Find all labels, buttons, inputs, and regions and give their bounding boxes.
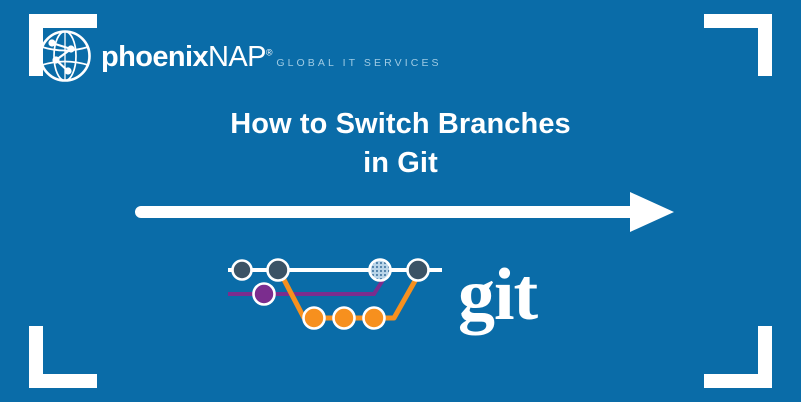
- page-title: How to Switch Branches in Git: [0, 105, 801, 183]
- corner-bracket-bottom-left-icon: [29, 326, 97, 388]
- edge-other-branch: [228, 272, 388, 294]
- commit-node-feature-2[interactable]: [334, 308, 355, 329]
- brand-name-nap: NAP: [208, 41, 266, 73]
- corner-bracket-top-right-icon: [704, 14, 772, 76]
- right-arrow-icon: [133, 190, 678, 234]
- commit-node-feature-3[interactable]: [364, 308, 385, 329]
- commit-node-merge[interactable]: [370, 260, 391, 281]
- brand-tagline: GLOBAL IT SERVICES: [276, 57, 441, 69]
- commit-node-feature-1[interactable]: [304, 308, 325, 329]
- brand-name-phoenix: phoenix: [101, 41, 208, 73]
- poster-canvas: phoenixNAP® GLOBAL IT SERVICES How to Sw…: [0, 0, 801, 402]
- git-wordmark: git: [458, 258, 537, 332]
- globe-network-icon: [38, 29, 92, 83]
- brand-text-block: phoenixNAP® GLOBAL IT SERVICES: [101, 41, 442, 72]
- commit-node-other-1[interactable]: [254, 284, 275, 305]
- right-arrow-graphic: [133, 190, 678, 234]
- bracket-bar-vertical: [758, 326, 772, 388]
- page-title-line-1: How to Switch Branches: [0, 105, 801, 144]
- git-branch-graph: [228, 250, 448, 340]
- bracket-bar-vertical: [758, 14, 772, 76]
- commit-node-main-1[interactable]: [233, 261, 252, 280]
- registered-mark-icon: ®: [266, 47, 272, 57]
- brand-logo: phoenixNAP® GLOBAL IT SERVICES: [38, 29, 442, 83]
- corner-bracket-bottom-right-icon: [704, 326, 772, 388]
- commit-node-main-head[interactable]: [408, 260, 429, 281]
- commit-node-main-2-branch-point[interactable]: [268, 260, 289, 281]
- bracket-bar-vertical: [29, 326, 43, 388]
- page-title-line-2: in Git: [0, 144, 801, 183]
- brand-wordmark: phoenixNAP®: [101, 41, 272, 73]
- git-graph-svg: [228, 250, 448, 340]
